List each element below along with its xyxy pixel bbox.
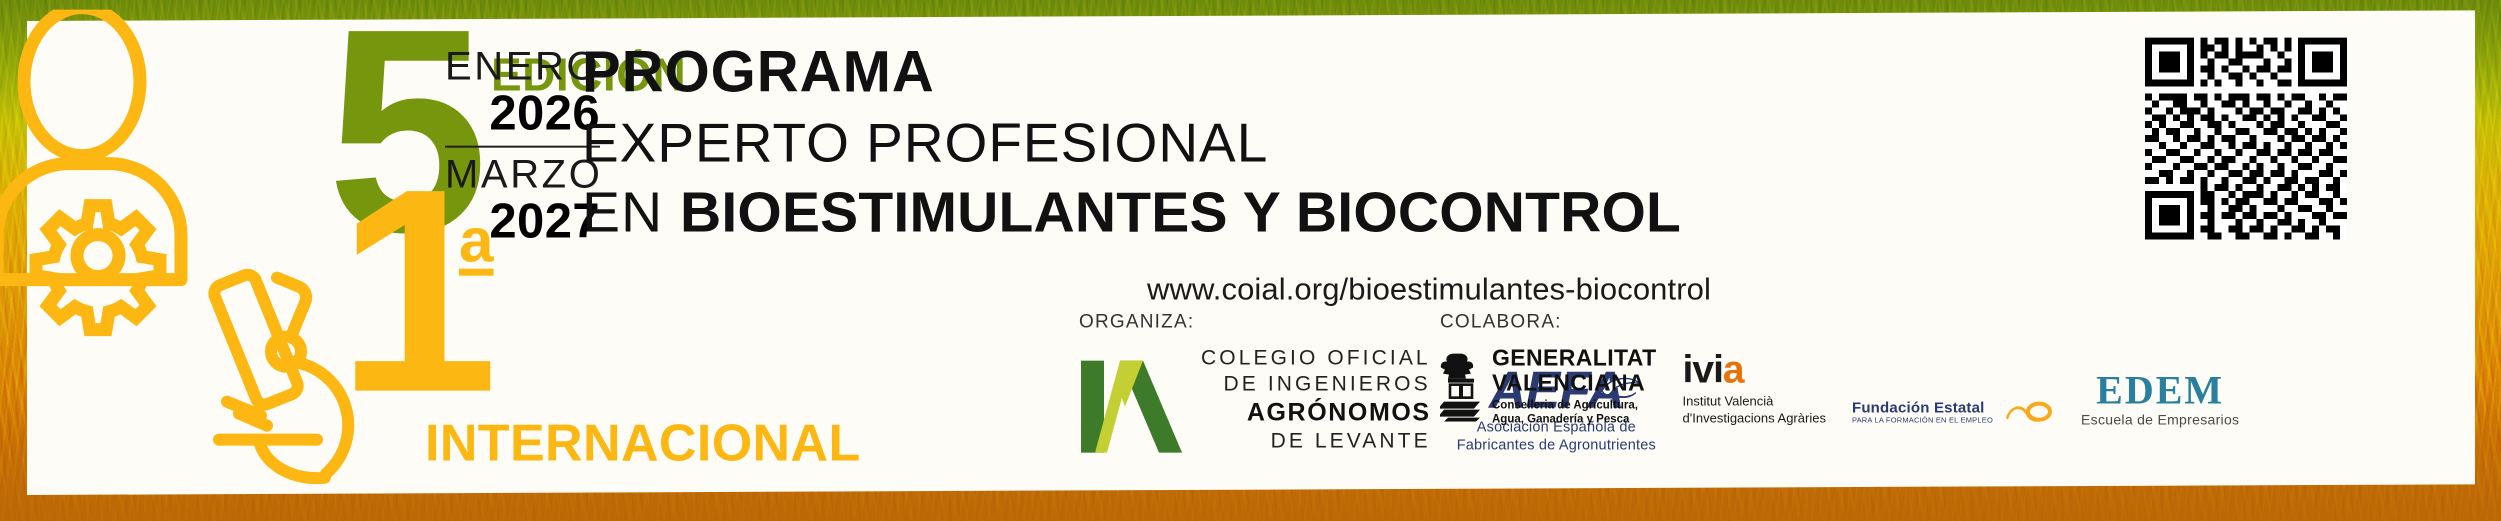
ivia-wordmark-part-2: a (1723, 349, 1744, 392)
edem-wordmark: EDEM (2081, 370, 2239, 412)
gva-line-1: GENERALITAT (1492, 346, 1657, 371)
end-month: MARZO (445, 154, 600, 197)
website-url[interactable]: www.coial.org/bioestimulantes-biocontrol (1147, 272, 1711, 308)
title-line-1: PROGRAMA (582, 38, 1681, 109)
date-divider (445, 146, 600, 148)
gva-crest-icon (1440, 352, 1484, 422)
start-month: ENERO (445, 46, 600, 89)
title-line-2: EXPERTO PROFESIONAL (582, 108, 1681, 177)
ivia-sub-line-1: Institut Valencià (1683, 394, 1826, 411)
fundacion-estatal-logo: Fundación Estatal PARA LA FORMACIÓN EN E… (1852, 398, 2055, 428)
coial-logo: COLEGIO OFICIAL DE INGENIEROS AGRÓNOMOS … (1079, 346, 1431, 455)
aefa-sub-line-2: Fabricantes de Agronutrientes (1457, 437, 1656, 455)
person-gear-icon (0, 10, 181, 330)
ivia-sub-line-2: d'Investigacions Agràries (1683, 411, 1826, 428)
start-year: 2026 (445, 89, 600, 140)
program-title: PROGRAMA EXPERTO PROFESIONAL EN BIOESTIM… (582, 38, 1681, 249)
gva-line-2: VALENCIANA (1492, 370, 1657, 395)
event-banner: 5 EDICIÓN 1 a INTERNACIONAL ENERO 2026 M… (0, 0, 2501, 521)
coial-line-3: AGRÓNOMOS (1201, 398, 1431, 429)
international-label: INTERNACIONAL (425, 414, 861, 474)
coial-line-4: DE LEVANTE (1201, 429, 1431, 455)
coial-line-2: DE INGENIEROS (1201, 372, 1431, 398)
fundacion-ribbon-icon (2001, 398, 2055, 428)
colabora-section: COLABORA: GENERALITAT (1440, 312, 2239, 428)
end-year: 2027 (445, 197, 600, 248)
edem-tagline: Escuela de Empresarios (2081, 413, 2239, 428)
ivia-logo: ivia Institut Valencià d'Investigacions … (1683, 351, 1826, 428)
content-card: 5 EDICIÓN 1 a INTERNACIONAL ENERO 2026 M… (27, 10, 2475, 495)
gva-sub-line-2: Agua, Ganadería y Pesca (1492, 413, 1657, 428)
ivia-wordmark-part-1: ivi (1683, 349, 1723, 392)
fundacion-line-1: Fundación Estatal (1852, 400, 1993, 417)
colabora-kicker: COLABORA: (1440, 312, 2239, 334)
edem-logo: EDEM Escuela de Empresarios (2081, 370, 2239, 428)
title-line-3: EN BIOESTIMULANTES Y BIOCONTROL (582, 178, 1681, 249)
title-line-3-main: BIOESTIMULANTES Y BIOCONTROL (680, 181, 1681, 245)
gva-sub-line-1: Conselleria de Agricultura, (1492, 398, 1657, 413)
coial-mark-icon (1079, 346, 1187, 454)
title-line-3-prefix: EN (582, 181, 680, 245)
qr-code[interactable] (2145, 38, 2347, 240)
fundacion-line-2: PARA LA FORMACIÓN EN EL EMPLEO (1852, 417, 1993, 426)
coial-line-1: COLEGIO OFICIAL (1201, 346, 1431, 372)
generalitat-valenciana-logo: GENERALITAT VALENCIANA Conselleria de Ag… (1440, 346, 1657, 428)
date-range: ENERO 2026 MARZO 2027 (445, 46, 600, 248)
